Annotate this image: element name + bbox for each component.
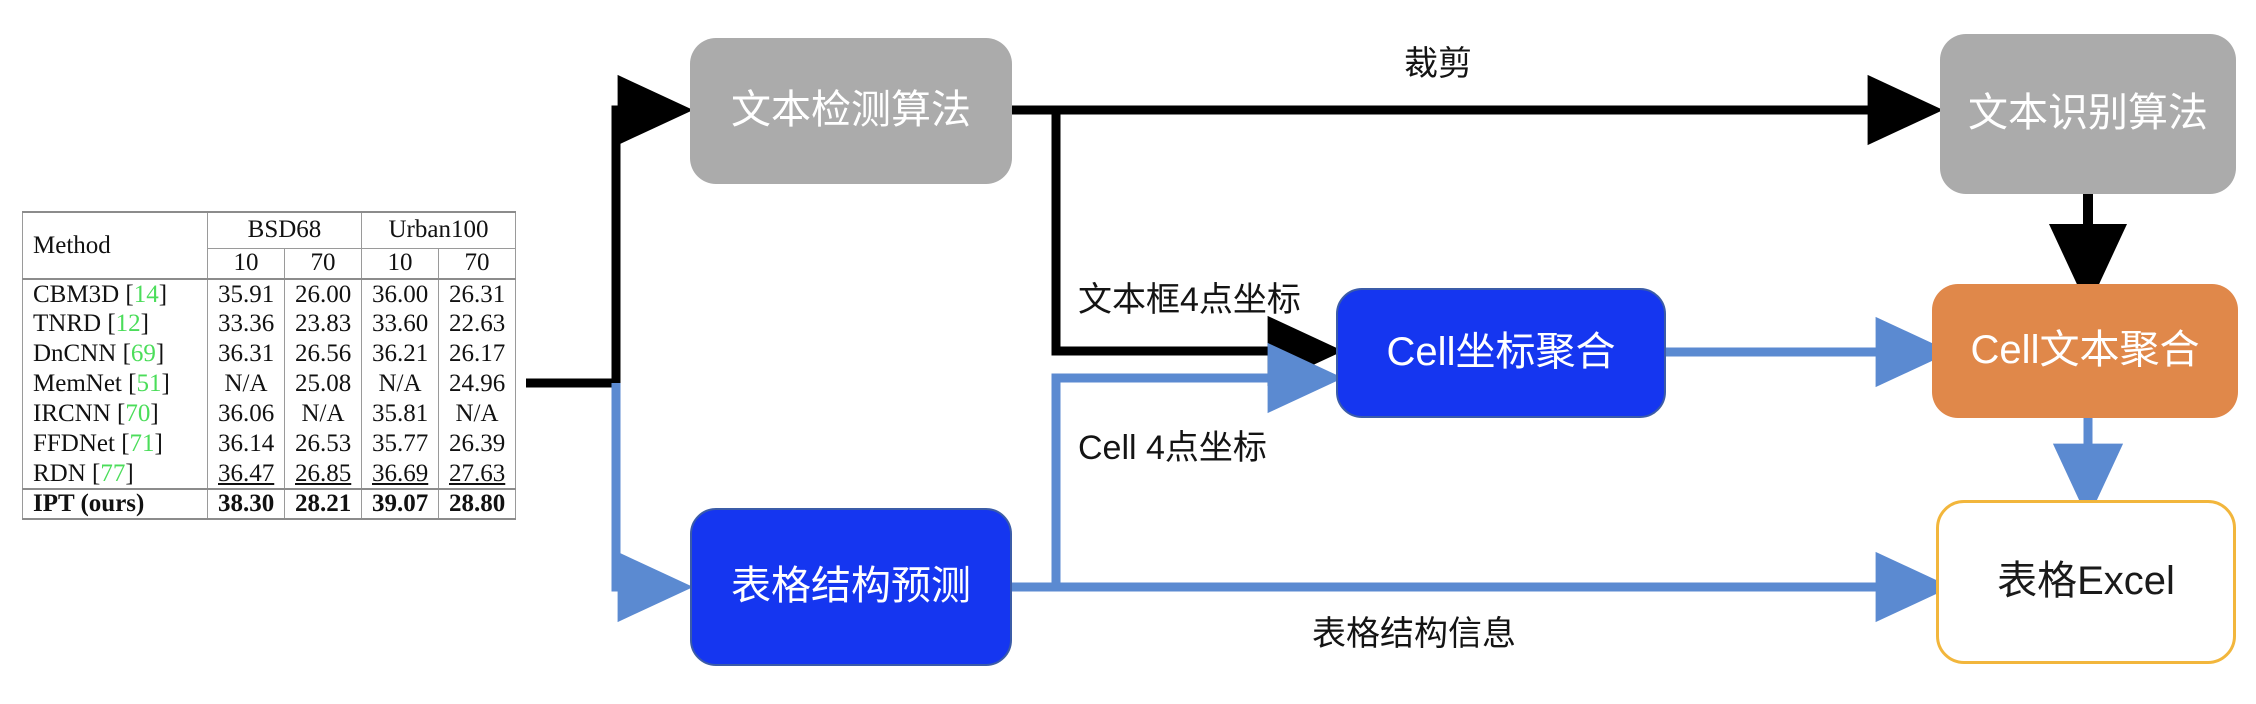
col-group-bsd68: BSD68 [208,212,362,248]
table-cell-method: DnCNN [69] [23,339,208,369]
edge-label-crop: 裁剪 [1404,36,1472,85]
table-cell-value: 26.00 [285,279,362,309]
table-cell-value: 26.39 [439,429,516,459]
node-text-detection-label: 文本检测算法 [731,87,971,134]
method-reference: 77 [100,460,125,487]
table-row: IRCNN [70]36.06N/A35.81N/A [23,399,516,429]
node-table-structure-prediction-label: 表格结构预测 [731,563,971,610]
table-cell-value: 25.08 [285,369,362,399]
table-cell-value: 36.47 [208,459,285,489]
table-cell-value: 36.69 [362,459,439,489]
table-cell-method: CBM3D [14] [23,279,208,309]
edge-split-to-table-structure [616,383,668,587]
method-name: TNRD [33,310,101,337]
method-reference: 71 [130,430,155,457]
col-header-bsd68-10: 10 [208,248,285,279]
method-reference: 69 [131,340,156,367]
table-cell-method: IRCNN [70] [23,399,208,429]
table-cell-value: 24.96 [439,369,516,399]
node-cell-text-aggregation[interactable]: Cell文本聚合 [1932,284,2238,418]
table-cell-value: 35.91 [208,279,285,309]
table-cell-value: 23.83 [285,309,362,339]
edge-split-to-text-detection [616,110,668,387]
method-name: MemNet [33,370,122,397]
col-header-urban100-70: 70 [439,248,516,279]
table-cell-value: 36.31 [208,339,285,369]
table-cell-value: 27.63 [439,459,516,489]
table-cell-value: 36.14 [208,429,285,459]
results-table-head: Method BSD68 Urban100 10 70 10 70 [23,212,516,279]
table-cell-value: N/A [362,369,439,399]
method-reference: 14 [134,281,159,308]
col-header-method: Method [23,212,208,279]
results-table-figure: Method BSD68 Urban100 10 70 10 70 CBM3D … [22,211,516,520]
results-table: Method BSD68 Urban100 10 70 10 70 CBM3D … [22,211,516,520]
col-group-urban100: Urban100 [362,212,516,248]
table-row: DnCNN [69]36.3126.5636.2126.17 [23,339,516,369]
node-cell-text-aggregation-label: Cell文本聚合 [1971,327,2200,374]
method-name: CBM3D [33,281,119,308]
method-name: IPT (ours) [33,490,144,517]
table-cell-method: RDN [77] [23,459,208,489]
table-cell-value: N/A [285,399,362,429]
node-cell-coordinate-aggregation[interactable]: Cell坐标聚合 [1336,288,1666,418]
table-cell-value: 35.77 [362,429,439,459]
table-header-row-groups: Method BSD68 Urban100 [23,212,516,248]
method-name: IRCNN [33,400,111,427]
node-text-recognition[interactable]: 文本识别算法 [1940,34,2236,194]
node-cell-coordinate-aggregation-label: Cell坐标聚合 [1387,329,1616,376]
table-row: FFDNet [71]36.1426.5335.7726.39 [23,429,516,459]
method-name: RDN [33,460,86,487]
table-cell-method: TNRD [12] [23,309,208,339]
node-table-excel[interactable]: 表格Excel [1936,500,2236,664]
results-table-body: CBM3D [14]35.9126.0036.0026.31TNRD [12]3… [23,279,516,519]
edge-label-cell-4-points: Cell 4点坐标 [1078,420,1267,469]
table-cell-value: 36.06 [208,399,285,429]
table-cell-value: 38.30 [208,489,285,519]
table-row: MemNet [51]N/A25.08N/A24.96 [23,369,516,399]
table-row: CBM3D [14]35.9126.0036.0026.31 [23,279,516,309]
method-reference: 12 [116,310,141,337]
table-cell-value: 35.81 [362,399,439,429]
method-reference: 51 [136,370,161,397]
table-cell-value: 28.80 [439,489,516,519]
table-cell-value: 26.53 [285,429,362,459]
node-text-recognition-label: 文本识别算法 [1968,90,2208,137]
table-cell-value: 33.60 [362,309,439,339]
table-cell-value: 26.17 [439,339,516,369]
table-cell-value: 39.07 [362,489,439,519]
table-row: TNRD [12]33.3623.8333.6022.63 [23,309,516,339]
node-table-excel-label: 表格Excel [1997,558,2175,605]
method-reference: 70 [125,400,150,427]
col-header-urban100-10: 10 [362,248,439,279]
table-cell-value: N/A [208,369,285,399]
node-text-detection[interactable]: 文本检测算法 [690,38,1012,184]
table-cell-value: 26.56 [285,339,362,369]
table-cell-value: 26.85 [285,459,362,489]
edge-table-structure-to-cell-coord [1056,378,1318,587]
table-cell-value: 28.21 [285,489,362,519]
col-header-bsd68-70: 70 [285,248,362,279]
table-cell-method: MemNet [51] [23,369,208,399]
table-cell-value: 36.21 [362,339,439,369]
table-cell-value: 36.00 [362,279,439,309]
edge-label-table-structure-info: 表格结构信息 [1312,606,1516,655]
method-name: FFDNet [33,430,115,457]
table-cell-value: N/A [439,399,516,429]
table-cell-method: FFDNet [71] [23,429,208,459]
table-cell-method: IPT (ours) [23,489,208,519]
node-table-structure-prediction[interactable]: 表格结构预测 [690,508,1012,666]
edge-label-textbox-4-points: 文本框4点坐标 [1078,272,1301,321]
diagram-canvas: Method BSD68 Urban100 10 70 10 70 CBM3D … [0,0,2256,704]
table-row: RDN [77]36.4726.8536.6927.63 [23,459,516,489]
table-cell-value: 22.63 [439,309,516,339]
table-cell-value: 26.31 [439,279,516,309]
table-cell-value: 33.36 [208,309,285,339]
table-row: IPT (ours)38.3028.2139.0728.80 [23,489,516,519]
method-name: DnCNN [33,340,116,367]
